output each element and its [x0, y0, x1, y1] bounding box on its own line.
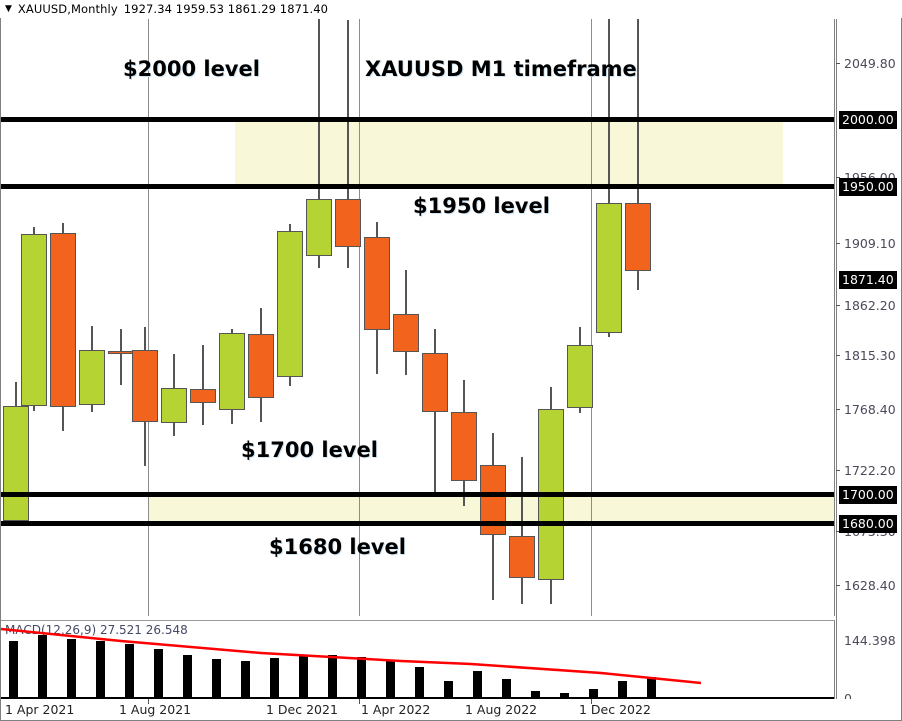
price-tick-label: 1628.40 [844, 578, 896, 593]
candle-body [393, 314, 419, 352]
candlestick [596, 19, 622, 616]
candle-body [451, 412, 477, 481]
annotation-label: $1680 level [269, 535, 406, 559]
annotation-label: XAUUSD M1 timeframe [365, 57, 637, 81]
time-axis-tick [591, 699, 592, 704]
candlestick [625, 19, 651, 616]
macd-signal-line [1, 621, 835, 699]
price-tick-label: 1862.20 [844, 298, 896, 313]
candlestick [480, 19, 506, 616]
candle-wick [521, 457, 523, 604]
candlestick [50, 19, 76, 616]
candlestick [567, 19, 593, 616]
time-axis-label: 1 Aug 2021 [119, 702, 191, 717]
time-axis-label: 1 Dec 2022 [579, 702, 651, 717]
level-line-1680[interactable] [1, 521, 835, 526]
axis-tickmark [836, 355, 840, 356]
candle-body [277, 231, 303, 377]
time-axis-label: 1 Apr 2022 [361, 702, 430, 717]
price-tick-label: 2049.80 [844, 56, 896, 71]
axis-tickmark [836, 409, 840, 410]
candle-wick [120, 329, 122, 385]
candle-body [21, 234, 47, 406]
candle-body [306, 199, 332, 256]
chart-window: ▼ XAUUSD,Monthly 1927.34 1959.53 1861.29… [0, 0, 902, 721]
ohlc-values: 1927.34 1959.53 1861.29 1871.40 [124, 2, 328, 16]
price-tick-label: 1909.10 [844, 236, 896, 251]
candle-body [567, 345, 593, 408]
candle-body [161, 388, 187, 423]
candlestick [509, 19, 535, 616]
candlestick [422, 19, 448, 616]
candlestick [132, 19, 158, 616]
price-badge: 1871.40 [839, 271, 897, 289]
axis-tickmark [836, 305, 840, 306]
candlestick [219, 19, 245, 616]
annotation-label: $1950 level [413, 194, 550, 218]
candle-body [625, 203, 651, 271]
candle-body [335, 199, 361, 247]
annotation-label: $2000 level [123, 57, 260, 81]
price-tick-label: 1815.30 [844, 348, 896, 363]
level-line-2000[interactable] [1, 117, 835, 122]
candle-body [422, 353, 448, 412]
price-badge: 1680.00 [839, 515, 897, 533]
candlestick [538, 19, 564, 616]
candle-body [50, 233, 76, 407]
price-axis[interactable]: 2049.801956.001909.101862.201815.301768.… [836, 19, 901, 699]
candlestick [21, 19, 47, 616]
price-tick-label: 1768.40 [844, 402, 896, 417]
candlestick [248, 19, 274, 616]
candlestick [451, 19, 477, 616]
candle-body [364, 237, 390, 330]
candle-wick [202, 345, 204, 425]
candlestick [393, 19, 419, 616]
time-axis[interactable]: 1 Apr 20211 Aug 20211 Dec 20211 Apr 2022… [1, 699, 901, 720]
candlestick [108, 19, 134, 616]
axis-divider [836, 19, 837, 699]
price-badge: 1700.00 [839, 486, 897, 504]
time-axis-label: 1 Dec 2021 [266, 702, 338, 717]
candle-body [596, 203, 622, 333]
candle-body [219, 333, 245, 410]
candlestick [161, 19, 187, 616]
price-badge: 2000.00 [839, 111, 897, 129]
candle-body [108, 351, 134, 354]
candlestick [306, 19, 332, 616]
candlestick [277, 19, 303, 616]
time-axis-label: 1 Aug 2022 [465, 702, 537, 717]
axis-tickmark [836, 585, 840, 586]
chevron-down-icon[interactable]: ▼ [5, 5, 12, 14]
candlestick [335, 19, 361, 616]
annotation-label: $1700 level [241, 438, 378, 462]
macd-pane[interactable]: MACD(12,26,9) 27.521 26.548 [1, 620, 835, 699]
axis-tickmark [836, 470, 840, 471]
candle-body [132, 350, 158, 422]
candlestick [364, 19, 390, 616]
time-axis-tick [359, 699, 360, 704]
candlestick [190, 19, 216, 616]
chart-header: ▼ XAUUSD,Monthly 1927.34 1959.53 1861.29… [0, 0, 902, 18]
price-tick-label: 1722.20 [844, 463, 896, 478]
candlestick [79, 19, 105, 616]
price-badge: 1950.00 [839, 178, 897, 196]
candle-body [509, 536, 535, 578]
candle-body [190, 389, 216, 403]
symbol-label: XAUUSD,Monthly [18, 2, 118, 16]
time-axis-tick [148, 699, 149, 704]
level-line-1700[interactable] [1, 492, 835, 497]
candle-body [79, 350, 105, 405]
axis-tickmark [836, 63, 840, 64]
candle-body [248, 334, 274, 398]
price-chart-pane[interactable]: $2000 levelXAUUSD M1 timeframe$1950 leve… [1, 19, 835, 616]
macd-scale-top: 144.398 [844, 633, 896, 648]
axis-tickmark [836, 243, 840, 244]
time-axis-label: 1 Apr 2021 [5, 702, 74, 717]
level-line-1950[interactable] [1, 184, 835, 189]
